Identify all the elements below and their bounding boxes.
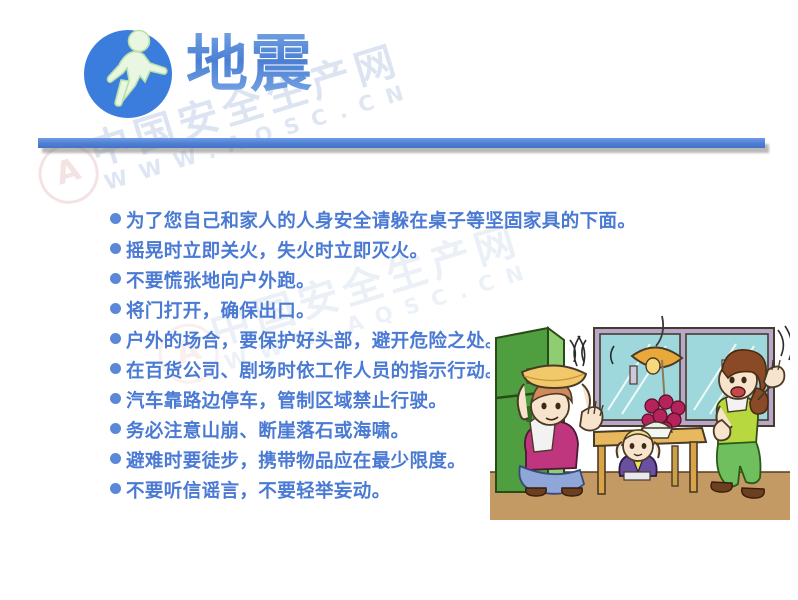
list-item-label: 为了您自己和家人的人身安全请躲在桌子等坚固家具的下面。: [126, 213, 636, 232]
header-divider: [38, 138, 765, 154]
list-item: 为了您自己和家人的人身安全请躲在桌子等坚固家具的下面。: [110, 213, 670, 243]
bullet-dot-icon: [110, 303, 121, 314]
list-item-label: 户外的场合，要保护好头部，避开危险之处。: [126, 333, 504, 352]
bullet-dot-icon: [110, 453, 121, 464]
bullet-dot-icon: [110, 243, 121, 254]
list-item-label: 摇晃时立即关火，失火时立即灭火。: [126, 243, 428, 262]
list-item-label: 避难时要徒步，携带物品应在最少限度。: [126, 453, 466, 472]
list-item-label: 不要慌张地向户外跑。: [126, 273, 315, 292]
list-item: 摇晃时立即关火，失火时立即灭火。: [110, 243, 670, 273]
divider-bar: [38, 138, 765, 148]
list-item-label: 务必注意山崩、断崖落石或海啸。: [126, 423, 410, 442]
list-item-label: 在百货公司、剧场时依工作人员的指示行动。: [126, 363, 504, 382]
bullet-dot-icon: [110, 333, 121, 344]
bullet-dot-icon: [110, 273, 121, 284]
running-person-icon: [82, 24, 180, 122]
list-item: 不要慌张地向户外跑。: [110, 273, 670, 303]
list-item-label: 汽车靠路边停车，管制区域禁止行驶。: [126, 393, 447, 412]
page-title: 地震: [186, 33, 314, 95]
earthquake-illustration: [490, 310, 790, 520]
list-item-label: 不要听信谣言，不要轻举妄动。: [126, 483, 391, 502]
page-header: 地震: [0, 0, 798, 140]
bullet-dot-icon: [110, 213, 121, 224]
bullet-dot-icon: [110, 363, 121, 374]
list-item-label: 将门打开，确保出口。: [126, 303, 315, 322]
bullet-dot-icon: [110, 483, 121, 494]
bullet-dot-icon: [110, 393, 121, 404]
bullet-dot-icon: [110, 423, 121, 434]
